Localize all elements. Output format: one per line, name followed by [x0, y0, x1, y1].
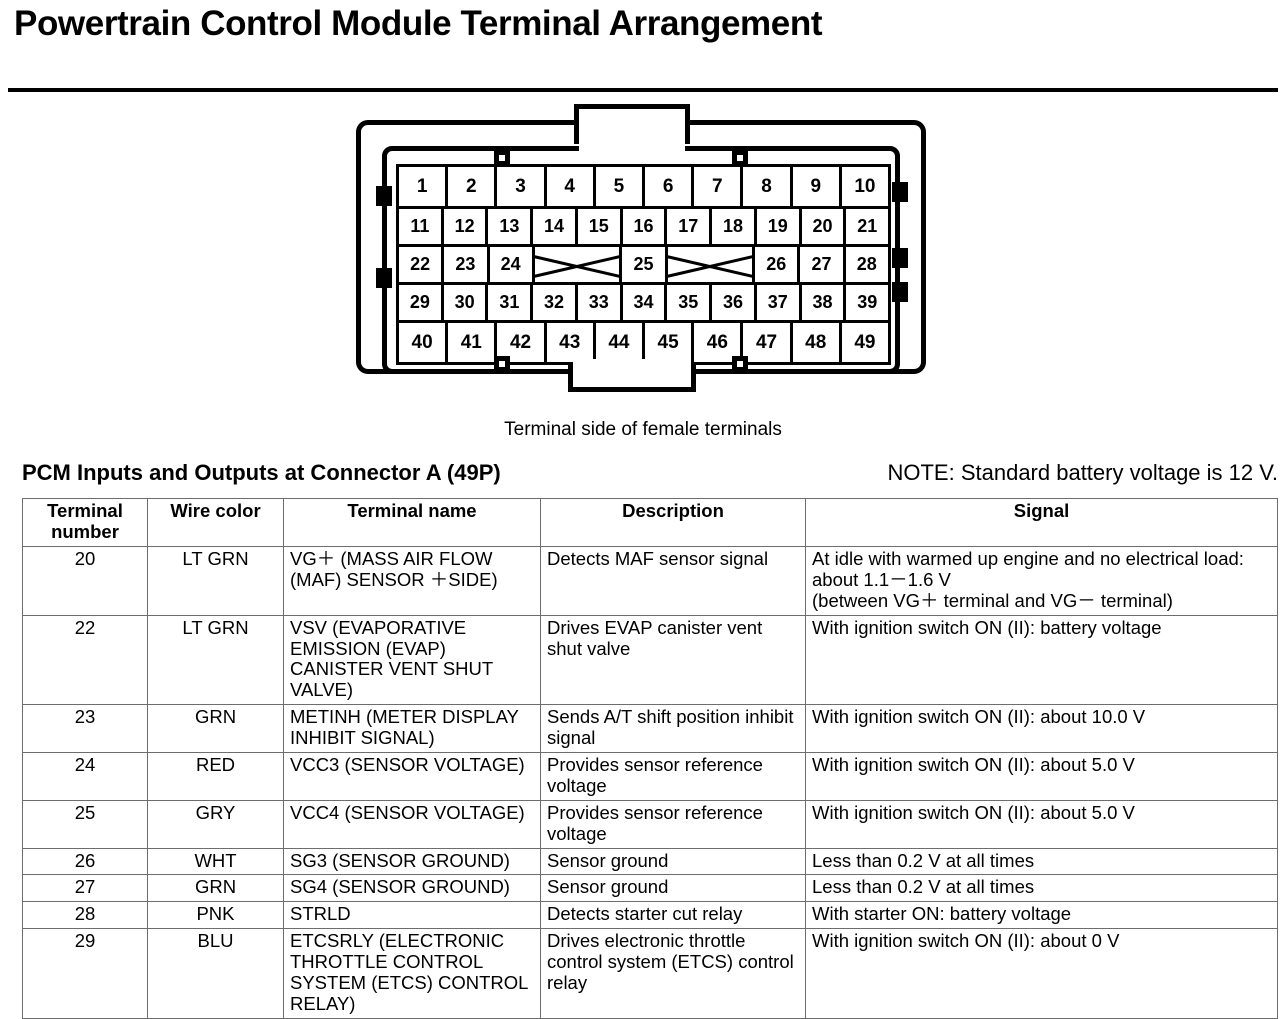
- table-row: 20LT GRNVG＋ (MASS AIR FLOW (MAF) SENSOR …: [23, 547, 1278, 616]
- cell-description: Provides sensor reference voltage: [541, 800, 806, 848]
- column-header-signal: Signal: [806, 499, 1278, 547]
- connector-notch-bottom-left: [494, 356, 510, 372]
- connector-tab-right-3: [892, 282, 908, 302]
- cell-terminal-name: VCC4 (SENSOR VOLTAGE): [284, 800, 541, 848]
- connector-pin-22: 22: [396, 244, 444, 285]
- cell-terminal-name: ETCSRLY (ELECTRONIC THROTTLE CONTROL SYS…: [284, 929, 541, 1019]
- connector-pin-1: 1: [396, 164, 448, 209]
- connector-pin-18: 18: [709, 206, 757, 247]
- connector-pin-31: 31: [485, 282, 533, 323]
- diagram-caption: Terminal side of female terminals: [0, 419, 1286, 441]
- connector-pin-10: 10: [839, 164, 891, 209]
- cell-signal: With ignition switch ON (II): battery vo…: [806, 615, 1278, 705]
- connector-notch-bottom-right: [732, 356, 748, 372]
- connector-pin-blank: [532, 244, 623, 285]
- table-row: 25GRYVCC4 (SENSOR VOLTAGE)Provides senso…: [23, 800, 1278, 848]
- connector-pin-19: 19: [754, 206, 802, 247]
- connector-pin-row: 22232425262728: [396, 244, 888, 285]
- connector-top-latch-cover: [579, 136, 685, 154]
- connector-pin-49: 49: [839, 320, 891, 365]
- cell-terminal-name: SG3 (SENSOR GROUND): [284, 848, 541, 875]
- connector-pin-28: 28: [843, 244, 891, 285]
- cell-terminal-number: 25: [23, 800, 148, 848]
- title-divider: [8, 88, 1278, 92]
- cell-signal: Less than 0.2 V at all times: [806, 875, 1278, 902]
- connector-pin-24: 24: [487, 244, 535, 285]
- cell-description: Sensor ground: [541, 875, 806, 902]
- table-row: 22LT GRNVSV (EVAPORATIVE EMISSION (EVAP)…: [23, 615, 1278, 705]
- cell-terminal-name: STRLD: [284, 902, 541, 929]
- cell-signal: With starter ON: battery voltage: [806, 902, 1278, 929]
- connector-pin-17: 17: [664, 206, 712, 247]
- cell-terminal-number: 24: [23, 753, 148, 801]
- page-title: Powertrain Control Module Terminal Arran…: [14, 4, 822, 44]
- cell-terminal-number: 26: [23, 848, 148, 875]
- cell-wire-color: WHT: [148, 848, 284, 875]
- pcm-terminal-table: Terminal number Wire color Terminal name…: [22, 498, 1278, 1019]
- cell-terminal-name: VG＋ (MASS AIR FLOW (MAF) SENSOR ＋SIDE): [284, 547, 541, 616]
- connector-pin-41: 41: [445, 320, 497, 365]
- cell-wire-color: RED: [148, 753, 284, 801]
- connector-pin-3: 3: [494, 164, 546, 209]
- cell-description: Drives electronic throttle control syste…: [541, 929, 806, 1019]
- cell-signal: With ignition switch ON (II): about 5.0 …: [806, 753, 1278, 801]
- column-header-description: Description: [541, 499, 806, 547]
- cell-terminal-name: VCC3 (SENSOR VOLTAGE): [284, 753, 541, 801]
- connector-pin-23: 23: [441, 244, 489, 285]
- section-heading: PCM Inputs and Outputs at Connector A (4…: [22, 460, 501, 486]
- connector-pin-11: 11: [396, 206, 444, 247]
- connector-pin-4: 4: [544, 164, 596, 209]
- cell-terminal-number: 29: [23, 929, 148, 1019]
- connector-pin-29: 29: [396, 282, 444, 323]
- table-row: 28PNKSTRLDDetects starter cut relayWith …: [23, 902, 1278, 929]
- connector-tab-left-2: [376, 268, 392, 288]
- table-row: 24REDVCC3 (SENSOR VOLTAGE)Provides senso…: [23, 753, 1278, 801]
- cell-wire-color: GRY: [148, 800, 284, 848]
- connector-pin-48: 48: [790, 320, 842, 365]
- cell-wire-color: LT GRN: [148, 547, 284, 616]
- connector-pin-47: 47: [740, 320, 792, 365]
- table-row: 27GRNSG4 (SENSOR GROUND)Sensor groundLes…: [23, 875, 1278, 902]
- cell-wire-color: PNK: [148, 902, 284, 929]
- header-line-1: Terminal: [47, 500, 123, 521]
- section-note: NOTE: Standard battery voltage is 12 V.: [887, 460, 1278, 486]
- connector-pin-37: 37: [754, 282, 802, 323]
- cell-wire-color: GRN: [148, 875, 284, 902]
- connector-diagram: 1234567891011121314151617181920212223242…: [352, 116, 932, 388]
- connector-pin-13: 13: [485, 206, 533, 247]
- connector-pin-26: 26: [752, 244, 800, 285]
- connector-pin-grid: 1234567891011121314151617181920212223242…: [396, 164, 888, 365]
- cell-wire-color: GRN: [148, 705, 284, 753]
- connector-pin-row: 2930313233343536373839: [396, 282, 888, 323]
- cell-description: Detects starter cut relay: [541, 902, 806, 929]
- connector-pin-row: 12345678910: [396, 164, 888, 209]
- column-header-terminal-number: Terminal number: [23, 499, 148, 547]
- connector-pin-6: 6: [642, 164, 694, 209]
- connector-pin-40: 40: [396, 320, 448, 365]
- connector-tab-left-1: [376, 186, 392, 206]
- connector-pin-25: 25: [619, 244, 667, 285]
- connector-bottom-latch-cover: [573, 359, 691, 371]
- cell-description: Detects MAF sensor signal: [541, 547, 806, 616]
- cell-description: Sends A/T shift position inhibit signal: [541, 705, 806, 753]
- cell-description: Drives EVAP canister vent shut valve: [541, 615, 806, 705]
- cell-signal: Less than 0.2 V at all times: [806, 848, 1278, 875]
- cell-terminal-number: 27: [23, 875, 148, 902]
- header-line-2: number: [51, 521, 119, 542]
- cell-description: Sensor ground: [541, 848, 806, 875]
- connector-pin-35: 35: [664, 282, 712, 323]
- table-row: 29BLUETCSRLY (ELECTRONIC THROTTLE CONTRO…: [23, 929, 1278, 1019]
- column-header-wire-color: Wire color: [148, 499, 284, 547]
- connector-pin-27: 27: [797, 244, 845, 285]
- cell-terminal-number: 20: [23, 547, 148, 616]
- connector-pin-36: 36: [709, 282, 757, 323]
- table-row: 23GRNMETINH (METER DISPLAY INHIBIT SIGNA…: [23, 705, 1278, 753]
- connector-pin-16: 16: [620, 206, 668, 247]
- cell-terminal-name: METINH (METER DISPLAY INHIBIT SIGNAL): [284, 705, 541, 753]
- cell-wire-color: BLU: [148, 929, 284, 1019]
- table-header-row: Terminal number Wire color Terminal name…: [23, 499, 1278, 547]
- connector-pin-14: 14: [530, 206, 578, 247]
- cell-terminal-number: 28: [23, 902, 148, 929]
- connector-pin-38: 38: [799, 282, 847, 323]
- connector-pin-9: 9: [790, 164, 842, 209]
- cell-wire-color: LT GRN: [148, 615, 284, 705]
- cell-signal: With ignition switch ON (II): about 10.0…: [806, 705, 1278, 753]
- connector-pin-2: 2: [445, 164, 497, 209]
- connector-tab-right-1: [892, 182, 908, 202]
- table-row: 26WHTSG3 (SENSOR GROUND)Sensor groundLes…: [23, 848, 1278, 875]
- connector-pin-30: 30: [441, 282, 489, 323]
- cell-signal: With ignition switch ON (II): about 5.0 …: [806, 800, 1278, 848]
- connector-pin-32: 32: [530, 282, 578, 323]
- cell-terminal-number: 22: [23, 615, 148, 705]
- cell-signal: With ignition switch ON (II): about 0 V: [806, 929, 1278, 1019]
- connector-pin-blank: [665, 244, 756, 285]
- connector-pin-12: 12: [441, 206, 489, 247]
- connector-tab-right-2: [892, 248, 908, 268]
- connector-pin-8: 8: [740, 164, 792, 209]
- connector-pin-34: 34: [620, 282, 668, 323]
- connector-pin-15: 15: [575, 206, 623, 247]
- cell-terminal-number: 23: [23, 705, 148, 753]
- connector-pin-39: 39: [843, 282, 891, 323]
- connector-pin-21: 21: [843, 206, 891, 247]
- connector-pin-20: 20: [799, 206, 847, 247]
- cell-terminal-name: SG4 (SENSOR GROUND): [284, 875, 541, 902]
- connector-pin-33: 33: [575, 282, 623, 323]
- connector-pin-row: 1112131415161718192021: [396, 206, 888, 247]
- cell-signal: At idle with warmed up engine and no ele…: [806, 547, 1278, 616]
- column-header-terminal-name: Terminal name: [284, 499, 541, 547]
- connector-pin-7: 7: [691, 164, 743, 209]
- connector-pin-5: 5: [593, 164, 645, 209]
- cell-description: Provides sensor reference voltage: [541, 753, 806, 801]
- cell-terminal-name: VSV (EVAPORATIVE EMISSION (EVAP) CANISTE…: [284, 615, 541, 705]
